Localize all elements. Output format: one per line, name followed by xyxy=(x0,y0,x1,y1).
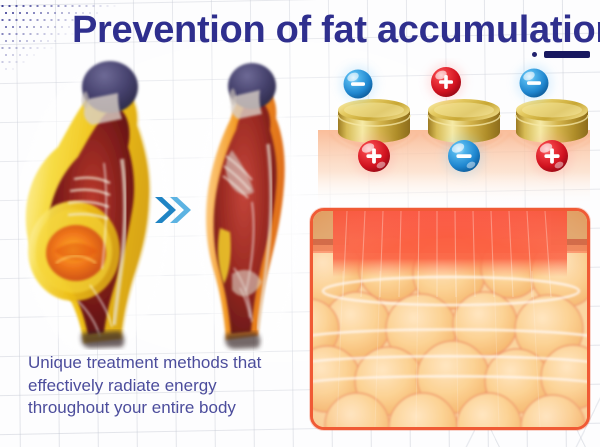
accent-dot xyxy=(532,52,537,57)
fat-cell-panel xyxy=(310,208,590,430)
ion-below-2-minus xyxy=(438,130,490,182)
electrode-ion-diagram xyxy=(318,58,590,206)
page-title: Prevention of fat accumulation xyxy=(72,10,596,50)
ion-below-1-plus xyxy=(348,130,400,182)
ion-below-3-plus xyxy=(526,130,578,182)
ion-above-1-minus xyxy=(334,60,382,108)
ion-above-3-minus xyxy=(510,59,558,107)
accent-dash xyxy=(544,51,590,58)
caption-line-2: effectively radiate energy xyxy=(28,375,306,398)
caption-block: Unique treatment methods that effectivel… xyxy=(28,352,306,420)
slim-body-figure xyxy=(190,52,305,352)
caption-line-1: Unique treatment methods that xyxy=(28,352,306,375)
ion-above-2-plus xyxy=(422,58,470,106)
double-chevron-arrow-icon xyxy=(152,193,192,227)
caption-line-3: throughout your entire body xyxy=(28,397,306,420)
poster-root: Prevention of fat accumulation xyxy=(0,0,600,447)
